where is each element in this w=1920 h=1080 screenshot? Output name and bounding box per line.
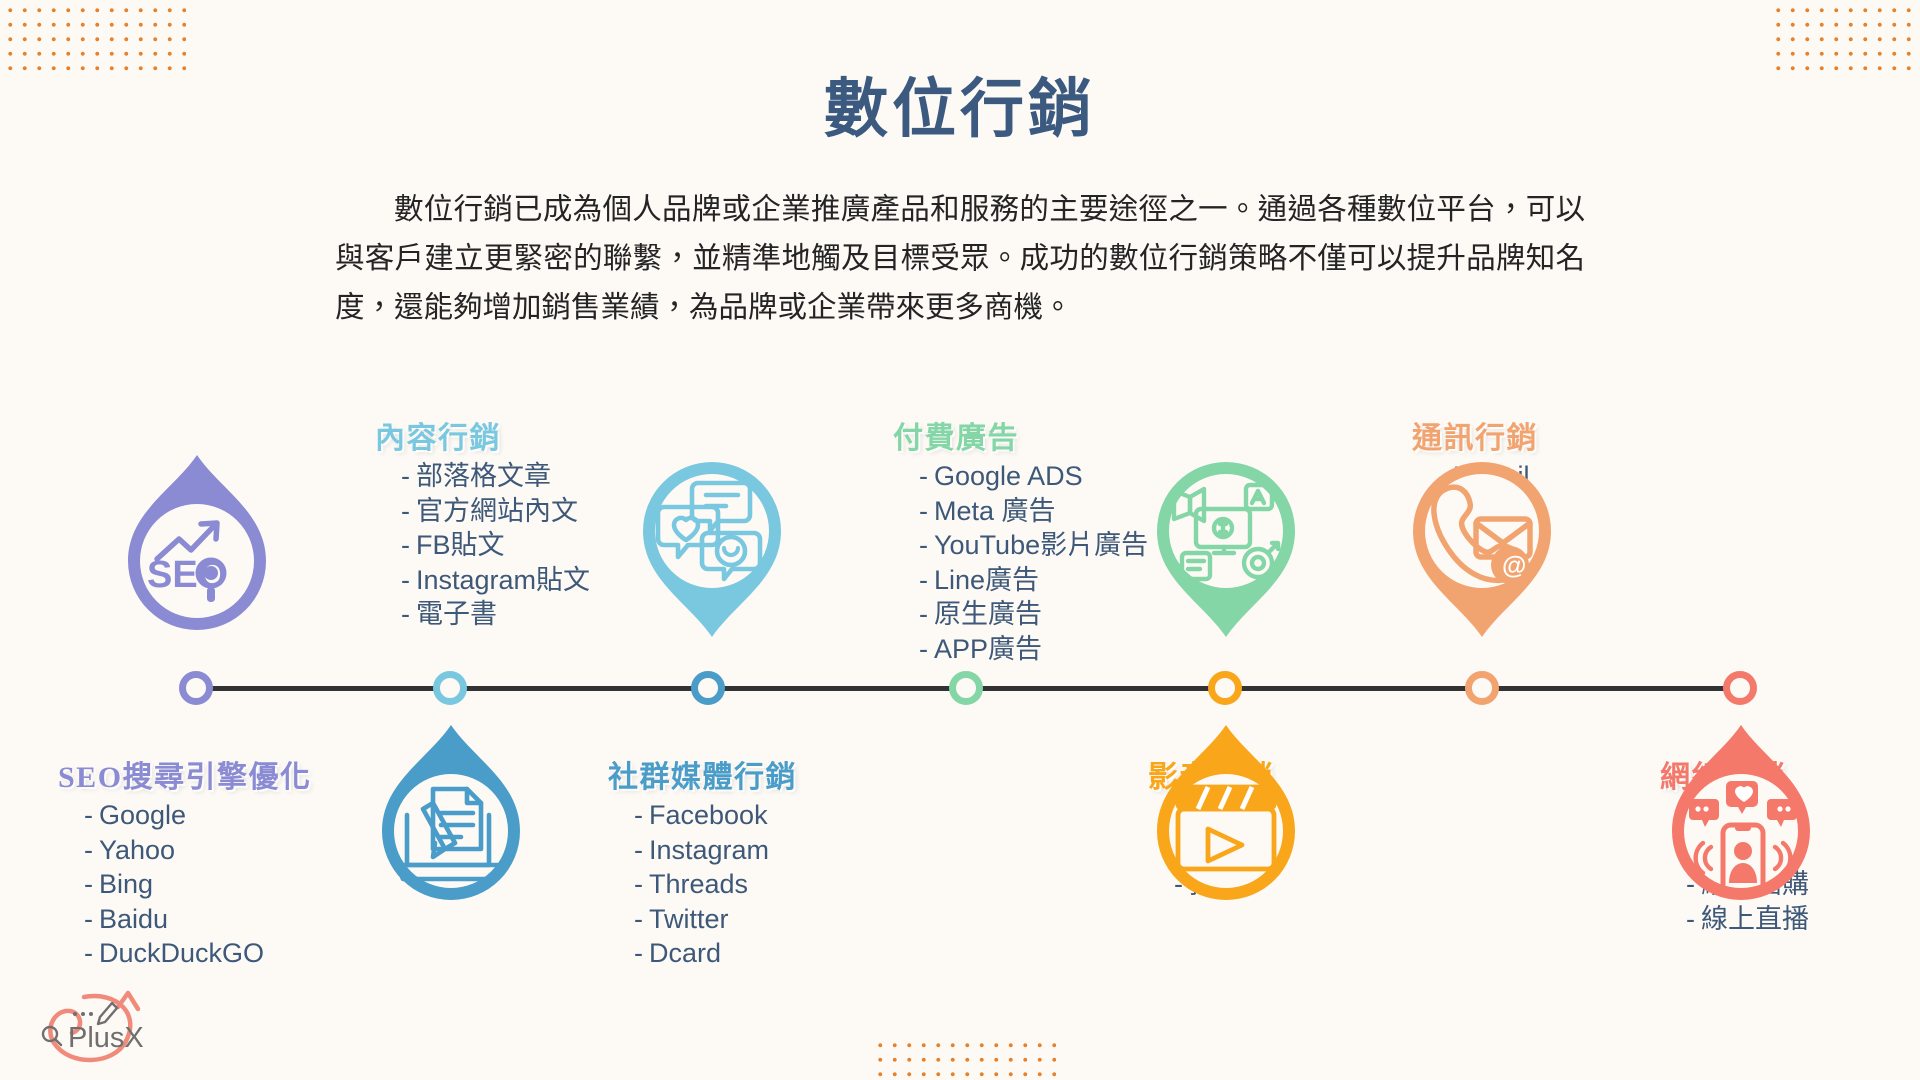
list-bullet-dash: -: [401, 530, 410, 560]
list-item: -原生廣告: [919, 597, 1148, 632]
list-item: -Instagram貼文: [401, 563, 590, 598]
stage-heading-social: 社群媒體行銷: [608, 752, 797, 796]
list-bullet-dash: -: [634, 835, 643, 865]
list-item: -Instagram: [634, 833, 797, 868]
list-bullet-dash: -: [401, 461, 410, 491]
list-bullet-dash: -: [401, 599, 410, 629]
pin-content[interactable]: [637, 455, 787, 637]
list-bullet-dash: -: [401, 565, 410, 595]
list-item: -Threads: [634, 867, 797, 902]
list-item: -官方網站內文: [401, 494, 590, 529]
list-item-label: Google ADS: [934, 461, 1083, 491]
list-item-label: Bing: [99, 869, 153, 899]
list-bullet-dash: -: [919, 530, 928, 560]
timeline-node-seo[interactable]: [179, 671, 213, 705]
svg-text:@: @: [1502, 552, 1526, 580]
list-bullet-dash: -: [84, 869, 93, 899]
list-bullet-dash: -: [919, 634, 928, 664]
list-item-label: Meta 廣告: [934, 496, 1056, 526]
list-item-label: DuckDuckGO: [99, 938, 264, 968]
timeline-node-influencer[interactable]: [1723, 671, 1757, 705]
list-bullet-dash: -: [84, 904, 93, 934]
pin-messaging[interactable]: @: [1407, 455, 1557, 637]
pluslx-logo: PlusX: [22, 985, 192, 1075]
list-bullet-dash: -: [634, 800, 643, 830]
stage-heading-messaging: 通訊行銷: [1412, 413, 1538, 457]
stage-block-social: 社群媒體行銷-Facebook-Instagram-Threads-Twitte…: [608, 752, 797, 971]
logo-text: PlusX: [68, 1022, 144, 1054]
list-item-label: Threads: [649, 869, 748, 899]
stage-block-paidads: 付費廣告-Google ADS-Meta 廣告-YouTube影片廣告-Line…: [893, 413, 1148, 666]
list-item: -Line廣告: [919, 563, 1148, 598]
list-bullet-dash: -: [634, 869, 643, 899]
timeline-node-social[interactable]: [691, 671, 725, 705]
stage-block-seo: SEO搜尋引擎優化-Google-Yahoo-Bing-Baidu-DuckDu…: [58, 752, 312, 971]
stage-heading-paidads: 付費廣告: [893, 413, 1148, 457]
list-bullet-dash: -: [634, 938, 643, 968]
list-bullet-dash: -: [919, 599, 928, 629]
list-item-label: 線上直播: [1701, 904, 1809, 934]
list-item: -Baidu: [84, 902, 312, 937]
pin-seo[interactable]: SEO: [122, 455, 272, 637]
pin-social[interactable]: [376, 725, 526, 907]
list-item: -Bing: [84, 867, 312, 902]
list-item: -Yahoo: [84, 833, 312, 868]
pin-shape-content: [637, 455, 787, 637]
list-item: -Google: [84, 798, 312, 833]
stage-list-seo: -Google-Yahoo-Bing-Baidu-DuckDuckGO: [58, 798, 312, 971]
pin-shape-seo: SEO: [122, 455, 272, 637]
list-item-label: APP廣告: [934, 634, 1042, 664]
list-item-label: 官方網站內文: [416, 496, 578, 526]
list-item-label: Dcard: [649, 938, 721, 968]
list-item: -Meta 廣告: [919, 494, 1148, 529]
list-item-label: Line廣告: [934, 565, 1039, 595]
pin-shape-messaging: @: [1407, 455, 1557, 637]
list-item: -Dcard: [634, 936, 797, 971]
list-item-label: 部落格文章: [416, 461, 551, 491]
page-title: 數位行銷: [0, 58, 1920, 150]
list-bullet-dash: -: [84, 835, 93, 865]
list-item: -部落格文章: [401, 459, 590, 494]
list-bullet-dash: -: [84, 800, 93, 830]
list-item-label: Facebook: [649, 800, 768, 830]
list-item: -YouTube影片廣告: [919, 528, 1148, 563]
stage-list-paidads: -Google ADS-Meta 廣告-YouTube影片廣告-Line廣告-原…: [893, 459, 1148, 666]
list-item-label: 原生廣告: [934, 599, 1042, 629]
list-item: -APP廣告: [919, 632, 1148, 667]
pin-shape-social: [376, 725, 526, 907]
stage-list-social: -Facebook-Instagram-Threads-Twitter-Dcar…: [608, 798, 797, 971]
pin-paidads[interactable]: [1151, 455, 1301, 637]
timeline-node-messaging[interactable]: [1465, 671, 1499, 705]
list-item: -DuckDuckGO: [84, 936, 312, 971]
list-bullet-dash: -: [1686, 904, 1695, 934]
list-item: -Google ADS: [919, 459, 1148, 494]
timeline-node-paidads[interactable]: [949, 671, 983, 705]
list-bullet-dash: -: [84, 938, 93, 968]
list-item-label: Twitter: [649, 904, 729, 934]
list-item-label: YouTube影片廣告: [934, 530, 1148, 560]
intro-paragraph: 數位行銷已成為個人品牌或企業推廣產品和服務的主要途徑之一。通過各種數位平台，可以…: [335, 186, 1585, 333]
list-item-label: Instagram貼文: [416, 565, 590, 595]
pin-influencer[interactable]: [1666, 725, 1816, 907]
pin-shape-video: [1151, 725, 1301, 907]
timeline-node-content[interactable]: [433, 671, 467, 705]
list-bullet-dash: -: [919, 565, 928, 595]
stage-block-content: 內容行銷-部落格文章-官方網站內文-FB貼文-Instagram貼文-電子書: [375, 413, 590, 632]
list-item-label: 電子書: [416, 599, 497, 629]
pin-shape-paidads: [1151, 455, 1301, 637]
list-bullet-dash: -: [401, 496, 410, 526]
list-item-label: Baidu: [99, 904, 168, 934]
dot-grid-bottom-center: [870, 1035, 1056, 1080]
pin-shape-influencer: [1666, 725, 1816, 907]
list-bullet-dash: -: [919, 496, 928, 526]
list-item-label: Instagram: [649, 835, 769, 865]
list-item-label: Yahoo: [99, 835, 175, 865]
list-item: -Facebook: [634, 798, 797, 833]
stage-heading-content: 內容行銷: [375, 413, 590, 457]
list-item-label: Google: [99, 800, 186, 830]
list-item: -電子書: [401, 597, 590, 632]
list-bullet-dash: -: [919, 461, 928, 491]
list-item: -Twitter: [634, 902, 797, 937]
timeline-node-video[interactable]: [1208, 671, 1242, 705]
pin-video[interactable]: [1151, 725, 1301, 907]
list-bullet-dash: -: [634, 904, 643, 934]
stage-heading-seo: SEO搜尋引擎優化: [58, 752, 312, 796]
list-item: -FB貼文: [401, 528, 590, 563]
stage-list-content: -部落格文章-官方網站內文-FB貼文-Instagram貼文-電子書: [375, 459, 590, 632]
list-item-label: FB貼文: [416, 530, 505, 560]
